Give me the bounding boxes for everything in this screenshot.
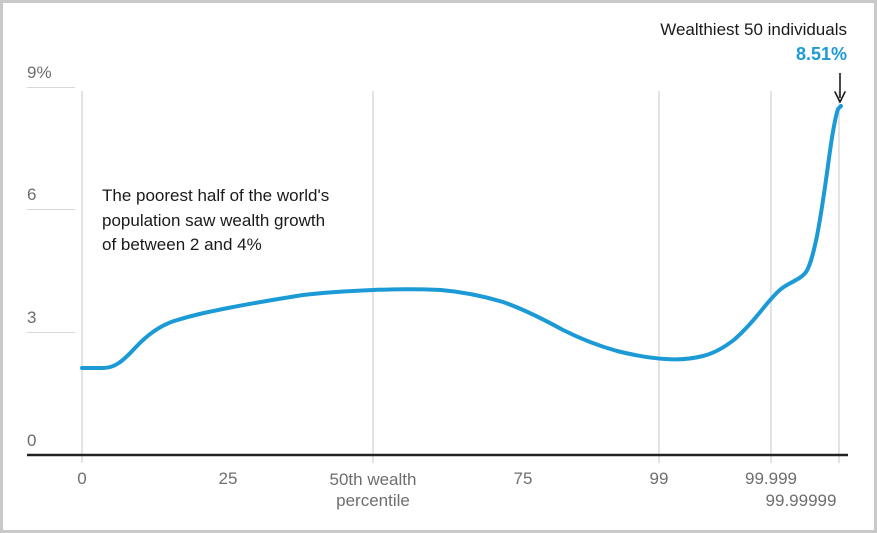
x-tick-label-99: 99 — [650, 469, 669, 489]
chart-plot — [3, 3, 877, 533]
x-tick-label-99-999: 99.999 — [745, 469, 797, 489]
y-tick-label-3: 3 — [27, 308, 36, 328]
note-line-3: of between 2 and 4% — [102, 233, 362, 258]
y-tick-rule-6 — [27, 209, 75, 210]
x-tick-label-25: 25 — [219, 469, 238, 489]
y-tick-label-0: 0 — [27, 431, 36, 451]
y-tick-rule-3 — [27, 332, 75, 333]
y-tick-label-9: 9% — [27, 63, 52, 83]
wealthiest-callout: Wealthiest 50 individuals 8.51% — [660, 19, 847, 66]
callout-value: 8.51% — [660, 42, 847, 66]
y-tick-rule-9 — [27, 87, 75, 88]
x-tick-label-50th-wealth-percentile: 50th wealth percentile — [308, 469, 438, 512]
chart-canvas: 9% 6 3 0 0 25 50th wealth percentile 75 … — [0, 0, 877, 533]
note-line-2: population saw wealth growth — [102, 209, 362, 234]
note-line-1: The poorest half of the world's — [102, 184, 362, 209]
x-tick-label-99-99999: 99.99999 — [766, 491, 837, 511]
x-tick-label-75: 75 — [514, 469, 533, 489]
y-tick-label-6: 6 — [27, 185, 36, 205]
callout-title: Wealthiest 50 individuals — [660, 19, 847, 42]
callout-down-arrow-icon — [835, 73, 845, 102]
x-tick-label-0: 0 — [77, 469, 86, 489]
gridlines — [82, 91, 839, 463]
poorest-half-annotation: The poorest half of the world's populati… — [102, 184, 362, 258]
